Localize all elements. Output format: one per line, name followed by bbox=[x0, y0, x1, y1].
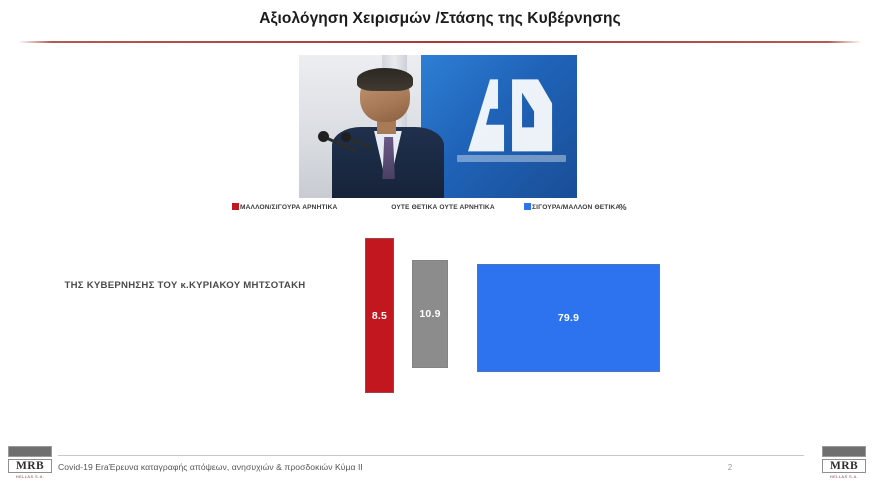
title-divider bbox=[18, 41, 862, 43]
mrb-logo-tagline-right: HELLAS S.A. bbox=[822, 474, 866, 479]
footer-study-label: Covid-19 EraΈρευνα καταγραφής απόψεων, α… bbox=[58, 462, 363, 472]
bar-value-positive: 79.9 bbox=[558, 312, 579, 324]
photo-content bbox=[299, 55, 577, 198]
footer-study-prefix: Covid-19 Era bbox=[58, 462, 109, 472]
legend-label-neutral: ΟΥΤΕ ΘΕΤΙΚΑ ΟΥΤΕ ΑΡΝΗΤΙΚΑ bbox=[391, 204, 495, 211]
bar-neutral[interactable]: 10.9 bbox=[412, 260, 448, 368]
politician-photo bbox=[299, 55, 577, 198]
mrb-logo-right: MRB HELLAS S.A. bbox=[822, 446, 866, 483]
legend-label-positive: ΣΙΓΟΥΡΑ/ΜΑΛΛΟΝ ΘΕΤΙΚΑ bbox=[532, 204, 620, 211]
title-bar: Αξιολόγηση Χειρισμών /Στάσης της Κυβέρνη… bbox=[0, 10, 880, 29]
legend-label-negative: ΜΑΛΛΟΝ/ΣΙΓΟΥΡΑ ΑΡΝΗΤΙΚΑ bbox=[240, 204, 337, 211]
bar-positive[interactable]: 79.9 bbox=[477, 264, 660, 372]
bar-value-neutral: 10.9 bbox=[419, 308, 440, 320]
mrb-logo-left: MRB HELLAS S.A. bbox=[8, 446, 52, 483]
mrb-logo-bar-icon bbox=[8, 446, 52, 457]
page-title: Αξιολόγηση Χειρισμών /Στάσης της Κυβέρνη… bbox=[0, 10, 880, 29]
mrb-logo-text-left: MRB bbox=[8, 459, 52, 473]
legend-item-neutral[interactable]: ΟΥΤΕ ΘΕΤΙΚΑ ΟΥΤΕ ΑΡΝΗΤΙΚΑ bbox=[388, 203, 498, 213]
page-number: 2 bbox=[700, 463, 760, 472]
mrb-logo-tagline-left: HELLAS S.A. bbox=[8, 474, 52, 479]
photo-person-hair bbox=[357, 68, 413, 91]
mrb-logo-text-right: MRB bbox=[822, 459, 866, 473]
nd-party-subtitle bbox=[457, 155, 565, 162]
microphone-secondary-icon bbox=[341, 132, 351, 142]
bar-negative[interactable]: 8.5 bbox=[365, 238, 394, 393]
category-label: ΤΗΣ ΚΥΒΕΡΝΗΣΗΣ ΤΟΥ κ.ΚΥΡΙΑΚΟΥ ΜΗΤΣΟΤΑΚΗ bbox=[26, 280, 344, 291]
slide: Αξιολόγηση Χειρισμών /Στάσης της Κυβέρνη… bbox=[0, 0, 880, 484]
axis-unit-percent: % bbox=[619, 202, 627, 212]
legend-swatch-positive-icon bbox=[524, 203, 531, 210]
mrb-logo-bar-right-icon bbox=[822, 446, 866, 457]
footer-divider bbox=[58, 455, 804, 456]
bar-value-negative: 8.5 bbox=[372, 310, 387, 322]
photo-person-tie bbox=[382, 137, 395, 180]
legend-swatch-negative-icon bbox=[232, 203, 239, 210]
bar-chart: ΤΗΣ ΚΥΒΕΡΝΗΣΗΣ ΤΟΥ κ.ΚΥΡΙΑΚΟΥ ΜΗΤΣΟΤΑΚΗ … bbox=[0, 225, 880, 410]
legend-item-negative[interactable]: ΜΑΛΛΟΝ/ΣΙΓΟΥΡΑ ΑΡΝΗΤΙΚΑ bbox=[232, 203, 382, 213]
footer-study-text: Έρευνα καταγραφής απόψεων, ανησυχιών & π… bbox=[109, 462, 363, 472]
nd-party-logo-icon bbox=[460, 74, 560, 154]
